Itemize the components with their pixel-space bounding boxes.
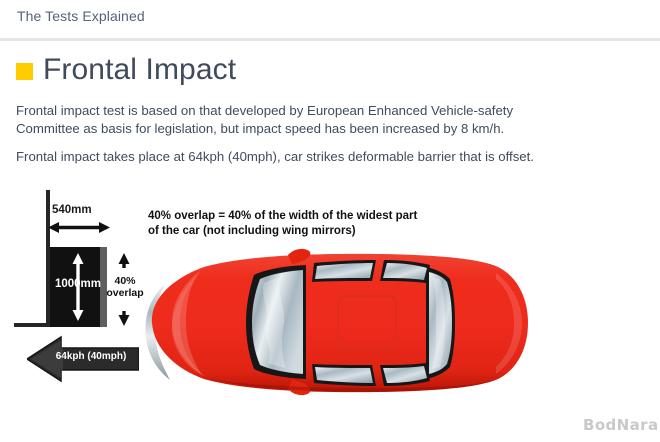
frontal-impact-diagram: 540mm 1000mm 40% overlap 64kph (40mph) 4…: [0, 185, 660, 415]
intro-paragraph: Frontal impact test is based on that dev…: [16, 102, 513, 137]
barrier-height-label: 1000mm: [50, 278, 106, 290]
overlap-note-line-1: 40% overlap = 40% of the width of the wi…: [148, 209, 417, 224]
test-detail-paragraph: Frontal impact takes place at 64kph (40m…: [16, 148, 534, 166]
impact-speed-label: 64kph (40mph): [47, 351, 135, 362]
car-top-view-illustration: [140, 247, 540, 397]
barrier-width-arrow-icon: [48, 221, 110, 234]
site-watermark: BodNara: [583, 416, 658, 434]
barrier-ground-line: [14, 323, 50, 327]
breadcrumb[interactable]: The Tests Explained: [17, 8, 145, 24]
overlap-explanation-note: 40% overlap = 40% of the width of the wi…: [148, 209, 417, 239]
barrier-width-label: 540mm: [52, 204, 92, 216]
intro-paragraph-line-1: Frontal impact test is based on that dev…: [16, 102, 513, 120]
square-bullet-icon: [16, 63, 33, 80]
breadcrumb-bar: The Tests Explained: [0, 0, 660, 38]
page-title: Frontal Impact: [43, 55, 236, 85]
overlap-note-line-2: of the car (not including wing mirrors): [148, 224, 417, 239]
intro-paragraph-line-2: Committee as basis for legislation, but …: [16, 120, 513, 138]
header-divider: [0, 38, 660, 41]
page-title-row: Frontal Impact: [16, 50, 236, 90]
